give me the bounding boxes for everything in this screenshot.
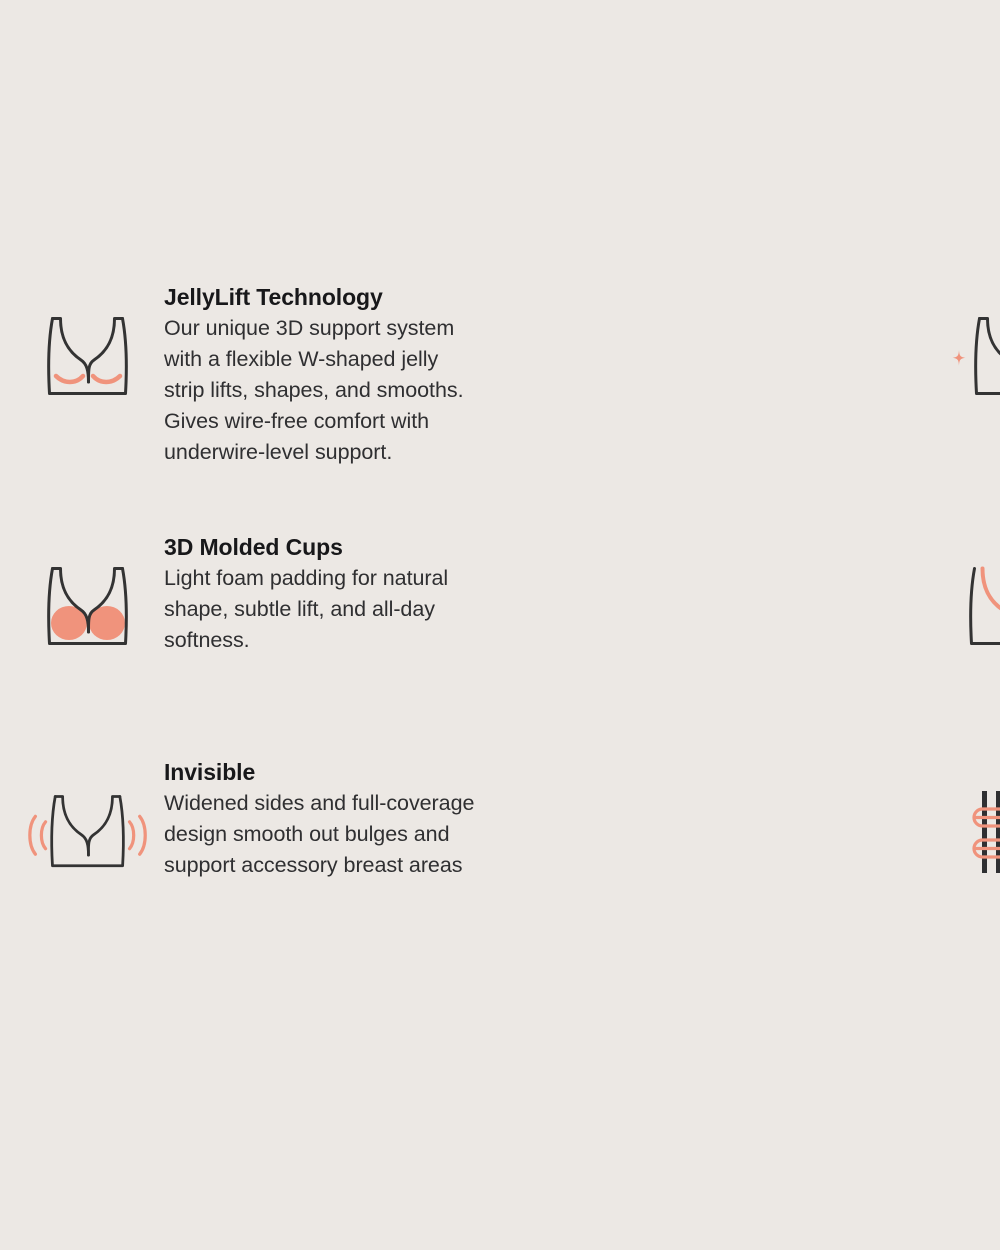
wave-right-outer (130, 822, 134, 849)
bra-invisible-waves-icon (28, 757, 148, 880)
feature-item-v-neckline: V-Neckline Deep V plunge neckline enhanc… (500, 532, 1000, 757)
feature-text-block: JellyLift Technology Our unique 3D suppo… (164, 282, 500, 468)
feature-item-seamless-breathable: Seamless & Breathable A smooth, invisibl… (500, 282, 1000, 532)
wave-left-far (30, 816, 36, 854)
feature-item-3d-molded-cups: 3D Molded Cups Light foam padding for na… (0, 532, 500, 757)
feature-item-invisible: Invisible Widened sides and full-coverag… (0, 757, 500, 927)
adjustable-straps-icon-svg (960, 785, 1000, 880)
feature-item-adjustable-straps: Adjustable Straps Adjustable, non-slip s… (500, 757, 1000, 927)
feature-item-jellylift-technology: JellyLift Technology Our unique 3D suppo… (0, 282, 500, 532)
bra-jelly-strip-icon (28, 282, 148, 405)
bra-v-neckline-icon (950, 532, 1000, 655)
bra-v-neckline-icon-svg (960, 560, 1000, 655)
feature-title: Invisible (164, 757, 480, 787)
features-grid: JellyLift Technology Our unique 3D suppo… (0, 282, 1000, 927)
bra-sparkle-icon-svg (950, 310, 1000, 405)
feature-highlights-page: JellyLift Technology Our unique 3D suppo… (0, 0, 1000, 1250)
feature-text-block: 3D Molded Cups Light foam padding for na… (164, 532, 500, 656)
bra-molded-cups-icon (28, 532, 148, 655)
feature-text-block: Invisible Widened sides and full-coverag… (164, 757, 500, 881)
adjustable-straps-icon (950, 757, 1000, 880)
feature-description: Light foam padding for natural shape, su… (164, 563, 480, 656)
bra-invisible-waves-icon-svg (28, 785, 148, 880)
strap-bar-1 (982, 791, 987, 873)
feature-title: JellyLift Technology (164, 282, 480, 312)
wave-left-outer (41, 822, 45, 849)
feature-title: 3D Molded Cups (164, 532, 480, 562)
bra-molded-cups-icon-svg (38, 560, 138, 655)
bra-sparkle-icon (950, 282, 1000, 405)
wave-right-far (140, 816, 146, 854)
sparkle-small-icon (953, 350, 966, 366)
feature-description: Our unique 3D support system with a flex… (164, 313, 480, 468)
bra-jelly-strip-icon-svg (38, 310, 138, 405)
strap-bar-2 (996, 791, 1000, 873)
feature-description: Widened sides and full-coverage design s… (164, 788, 480, 881)
